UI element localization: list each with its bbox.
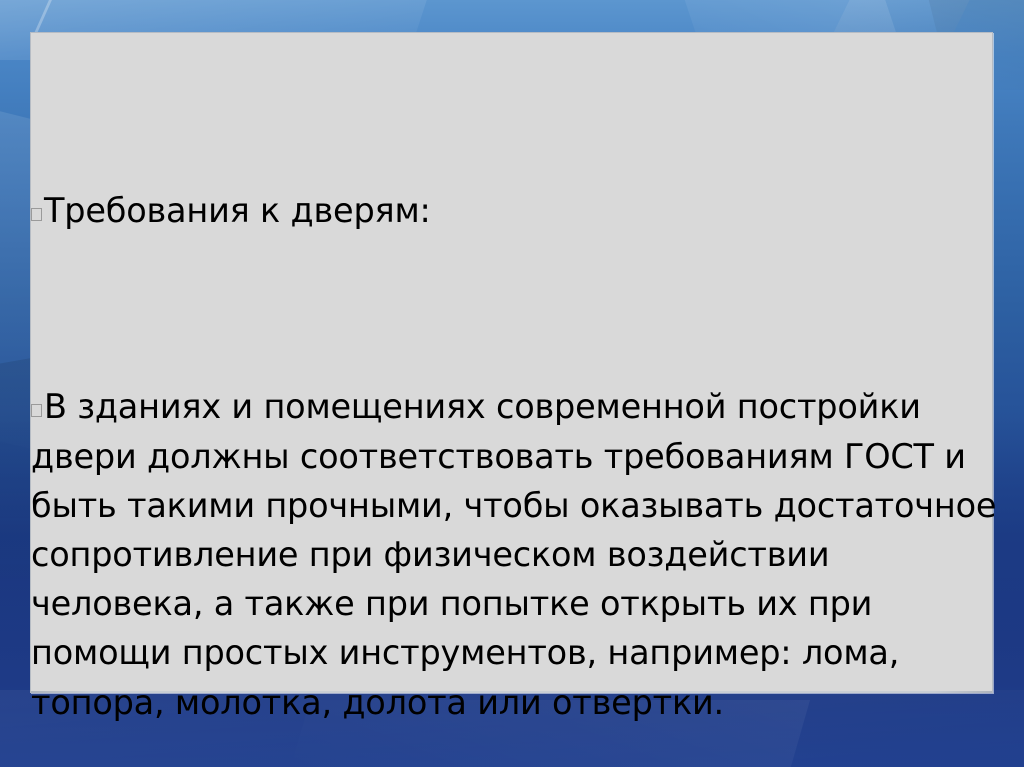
- paragraph-text: Требования к дверям:: [44, 191, 431, 230]
- paragraph-text: В зданиях и помещениях современной постр…: [31, 387, 1007, 721]
- bullet-paragraph-2[interactable]: В зданиях и помещениях современной постр…: [31, 382, 997, 726]
- square-bullet-icon: [31, 404, 42, 417]
- presentation-slide: Требования к дверям: В зданиях и помещен…: [0, 0, 1024, 767]
- slide-body-text[interactable]: Требования к дверям: В зданиях и помещен…: [31, 38, 997, 767]
- square-bullet-icon: [31, 208, 42, 221]
- bullet-paragraph-1[interactable]: Требования к дверям:: [31, 186, 997, 235]
